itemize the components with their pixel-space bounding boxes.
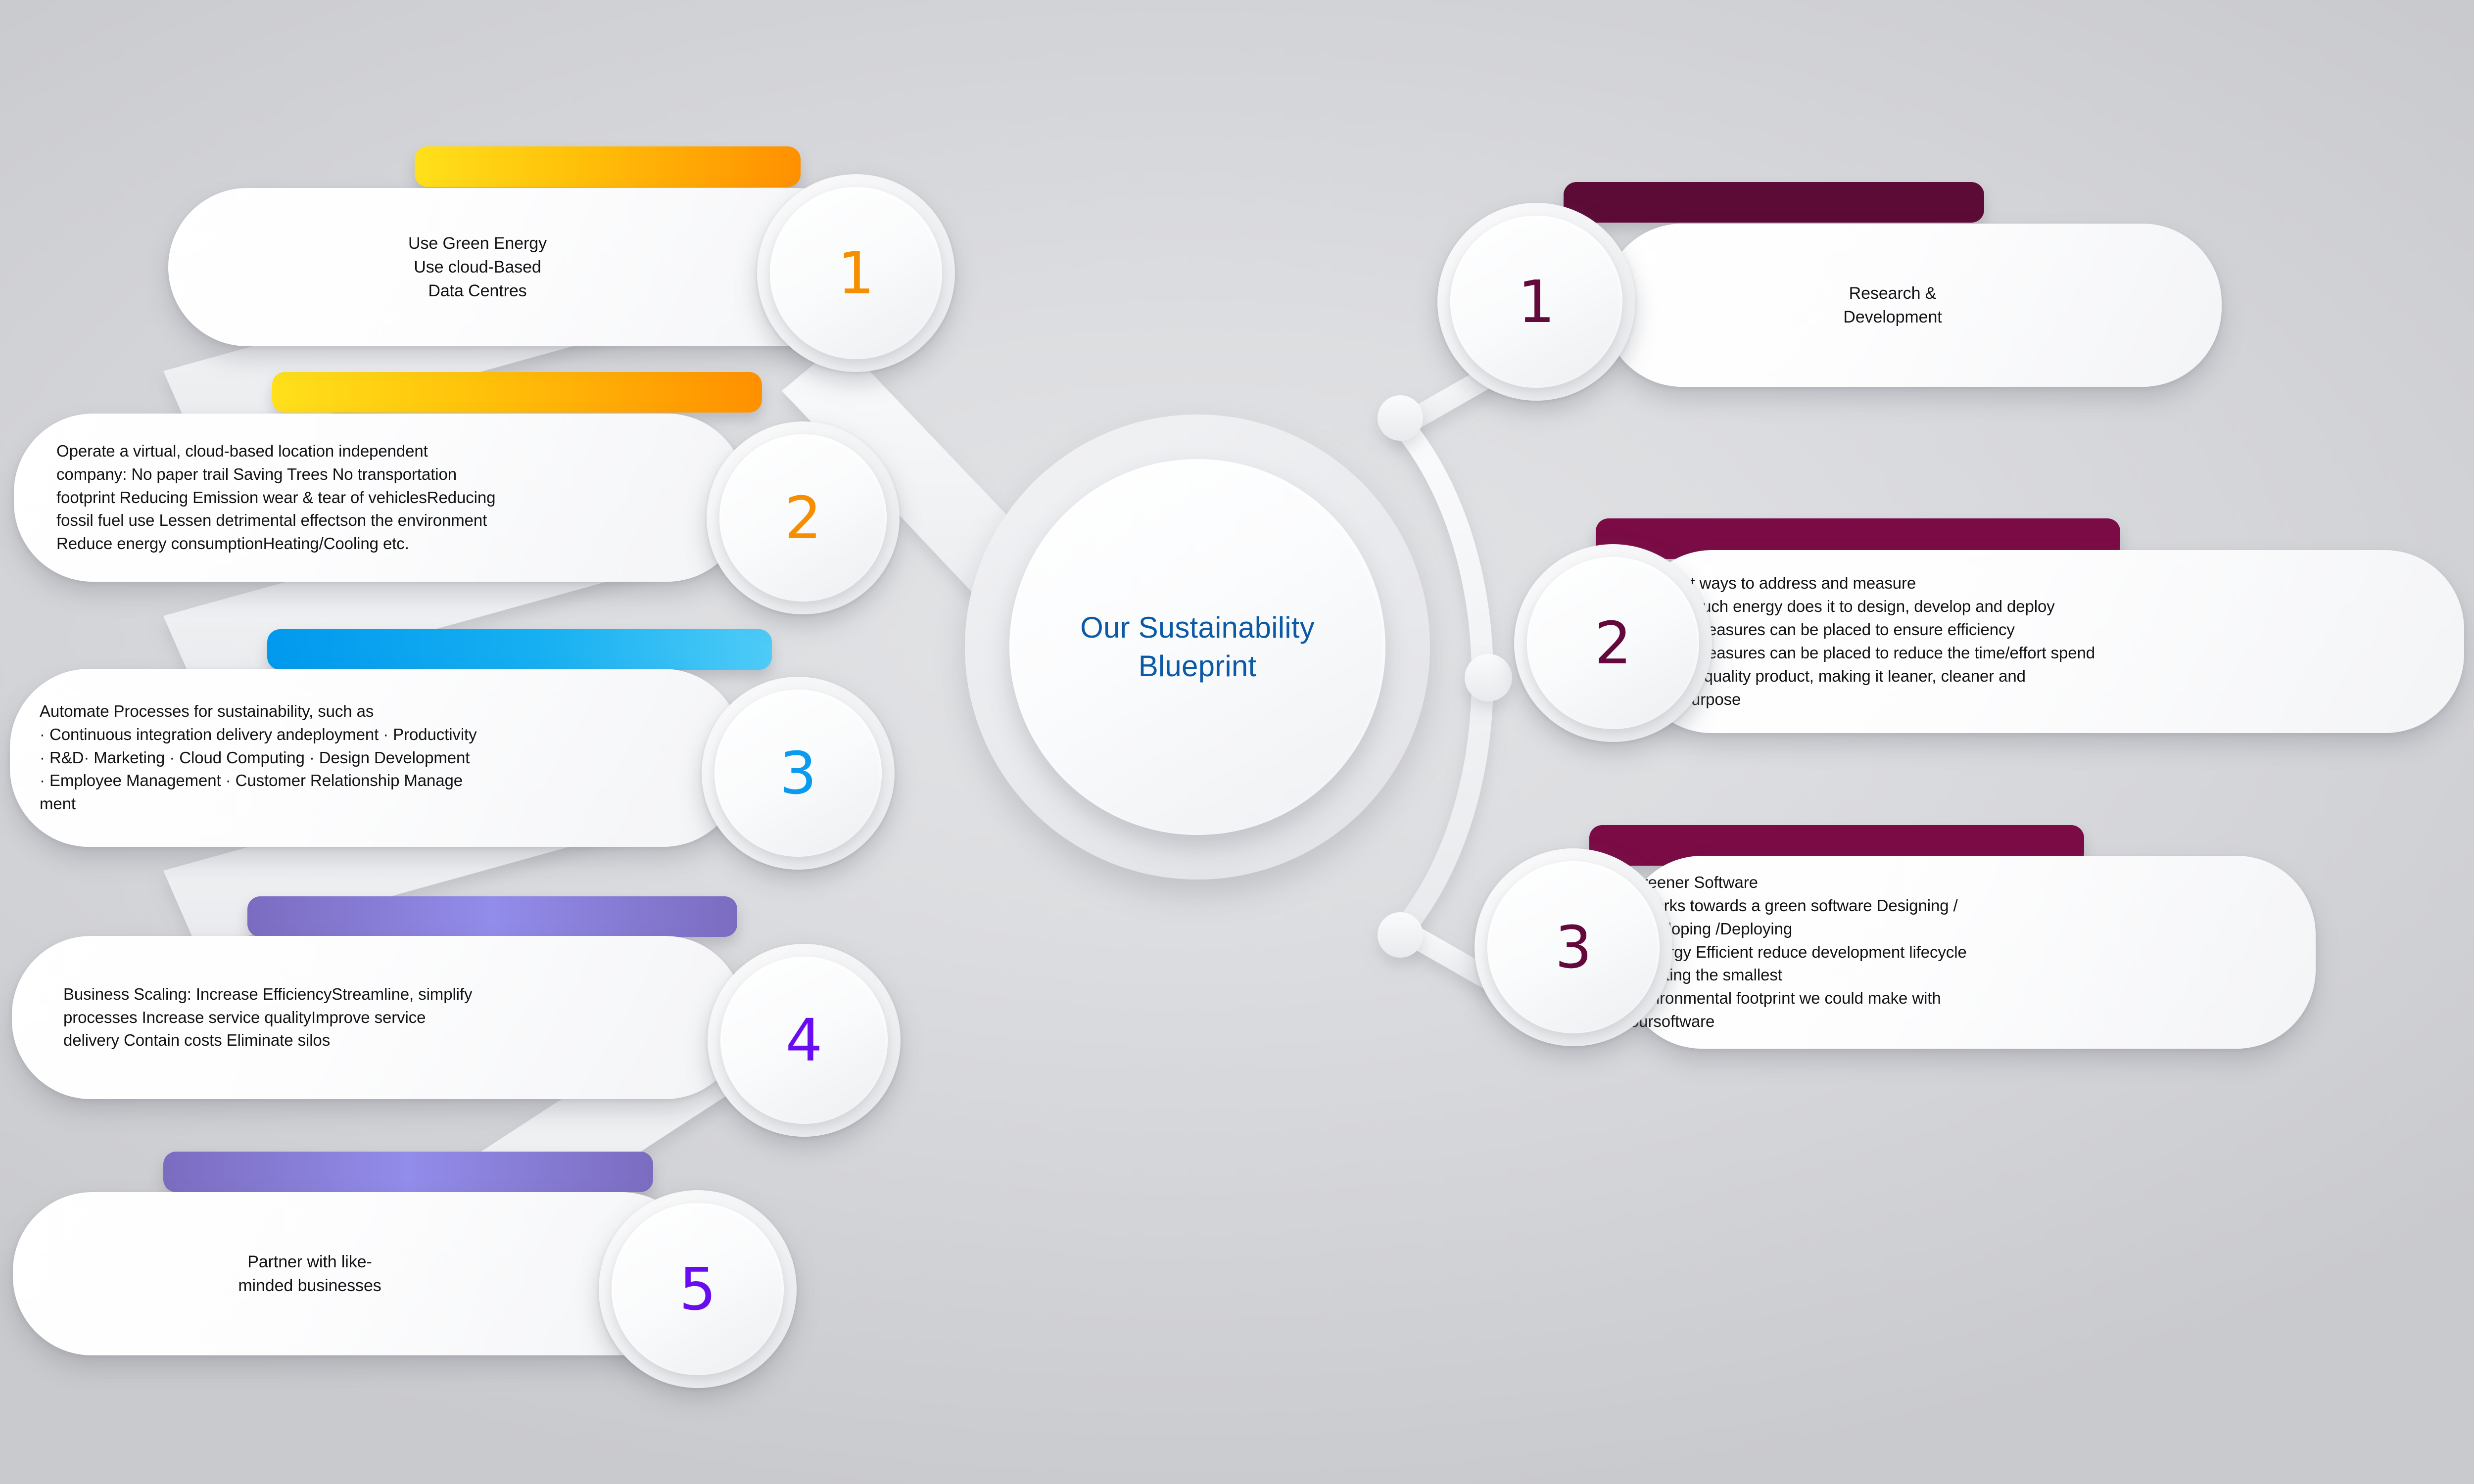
medal-left-2[interactable]: 2 [707, 421, 900, 614]
card-left-2-text: Operate a virtual, cloud-based location … [14, 440, 570, 556]
card-left-1-text: Use Green Energy Use cloud-Based Data Ce… [349, 232, 695, 303]
node-dot-middle [1465, 654, 1512, 701]
medal-left-3-number: 3 [779, 744, 816, 802]
accent-bar-left-5 [163, 1152, 653, 1192]
card-left-3-text: Automate Processes for sustainability, s… [10, 700, 546, 816]
accent-bar-right-1 [1564, 182, 1984, 223]
medal-right-2-number: 2 [1594, 614, 1631, 672]
center-hub: Our Sustainability Blueprint [965, 415, 1430, 880]
medal-left-2-number: 2 [784, 489, 821, 547]
card-right-1-text: Research & Development [1823, 281, 2001, 329]
card-left-4[interactable]: Business Scaling: Increase EfficiencyStr… [12, 936, 744, 1099]
infographic-canvas: Our Sustainability Blueprint Use Green E… [0, 0, 2474, 1484]
card-left-5-text: Partner with like- minded businesses [189, 1250, 524, 1298]
card-right-3-text: Greener Software · Works towards a green… [1623, 871, 1989, 1033]
medal-left-1-number: 1 [837, 244, 874, 302]
node-dot-top [1378, 395, 1423, 441]
card-right-2[interactable]: Look at ways to address and measure · Ho… [1633, 550, 2464, 733]
accent-bar-left-4 [247, 896, 737, 937]
card-left-5[interactable]: Partner with like- minded businesses [13, 1192, 701, 1355]
accent-bar-left-3 [267, 629, 772, 670]
medal-left-4-number: 4 [785, 1011, 822, 1069]
medal-left-5-number: 5 [679, 1260, 716, 1318]
page-title: Our Sustainability Blueprint [1080, 608, 1315, 686]
medal-left-4[interactable]: 4 [708, 944, 901, 1137]
node-dot-bottom [1378, 912, 1423, 958]
medal-right-2[interactable]: 2 [1514, 544, 1712, 742]
medal-right-3-number: 3 [1555, 918, 1592, 976]
center-hub-inner: Our Sustainability Blueprint [1009, 459, 1385, 835]
medal-right-1[interactable]: 1 [1437, 203, 1635, 401]
accent-bar-left-2 [272, 372, 762, 413]
accent-bar-left-1 [415, 146, 801, 187]
medal-left-1[interactable]: 1 [757, 174, 955, 372]
card-left-3[interactable]: Automate Processes for sustainability, s… [10, 669, 742, 847]
medal-right-1-number: 1 [1518, 273, 1555, 331]
card-left-4-text: Business Scaling: Increase EfficiencyStr… [12, 983, 546, 1053]
medal-left-5[interactable]: 5 [599, 1190, 797, 1388]
medal-right-3[interactable]: 3 [1475, 848, 1672, 1046]
card-right-1[interactable]: Research & Development [1603, 224, 2222, 387]
card-left-2[interactable]: Operate a virtual, cloud-based location … [14, 414, 746, 582]
medal-left-3[interactable]: 3 [702, 677, 895, 870]
card-right-3[interactable]: Greener Software · Works towards a green… [1623, 856, 2316, 1049]
